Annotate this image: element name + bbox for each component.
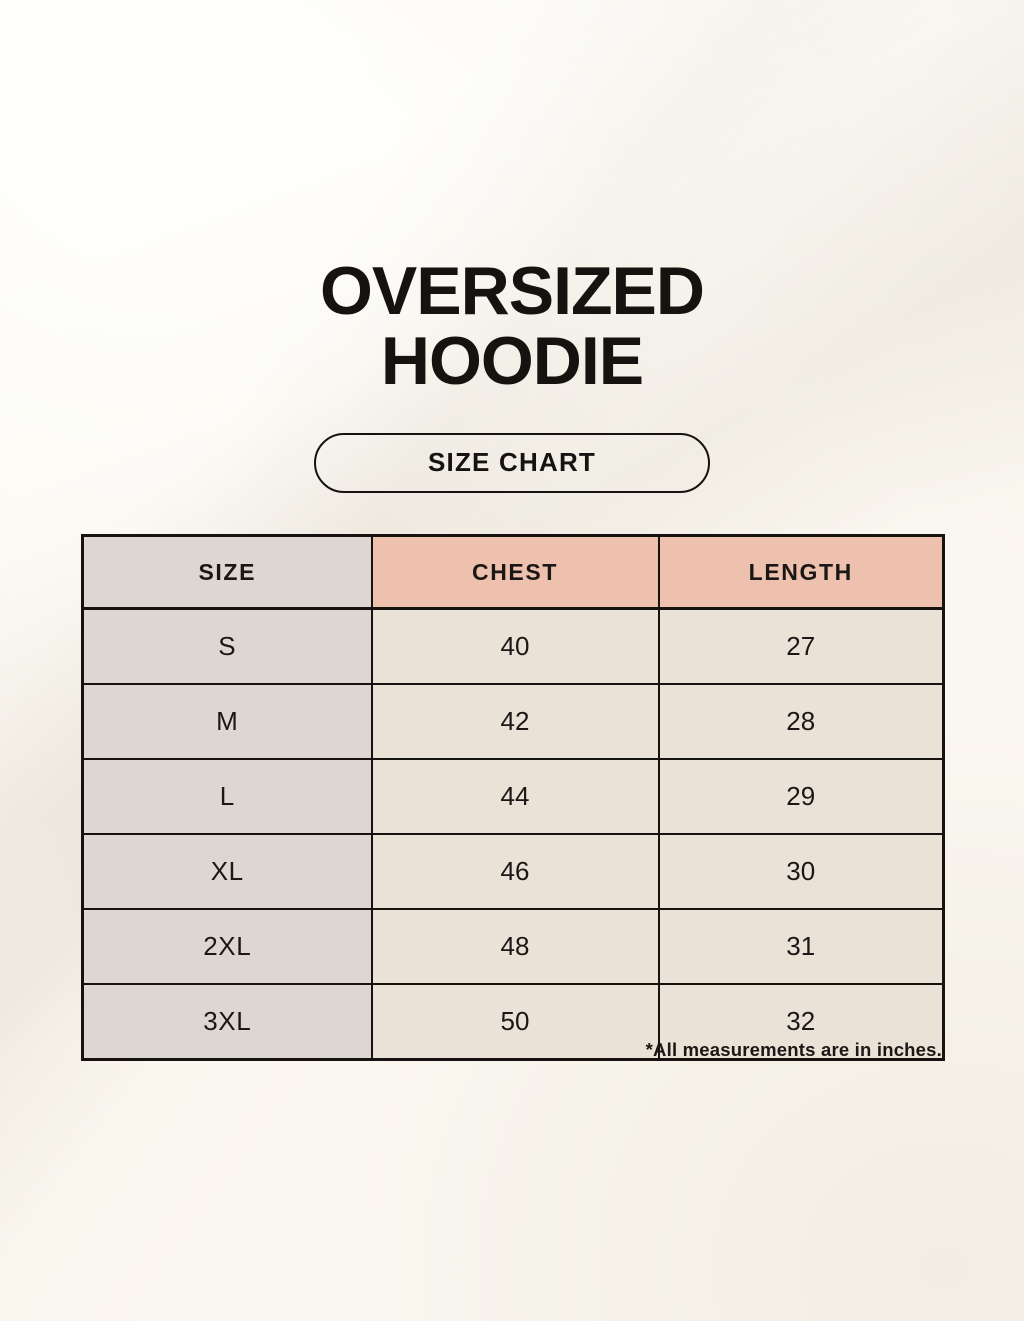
cell-chest: 44 bbox=[372, 759, 659, 834]
cell-size: 2XL bbox=[83, 909, 372, 984]
column-header-length: LENGTH bbox=[659, 536, 944, 609]
table-row: 2XL 48 31 bbox=[83, 909, 944, 984]
table-row: S 40 27 bbox=[83, 609, 944, 685]
cell-length: 31 bbox=[659, 909, 944, 984]
size-chart-table-container: SIZE CHEST LENGTH S 40 27 M 42 28 L bbox=[81, 534, 942, 1061]
cell-chest: 42 bbox=[372, 684, 659, 759]
cell-length: 30 bbox=[659, 834, 944, 909]
column-header-chest: CHEST bbox=[372, 536, 659, 609]
cell-size: M bbox=[83, 684, 372, 759]
page-title-line-2: HOODIE bbox=[0, 326, 1024, 396]
page-title: OVERSIZED HOODIE bbox=[0, 256, 1024, 396]
column-header-size: SIZE bbox=[83, 536, 372, 609]
page-title-line-1: OVERSIZED bbox=[0, 256, 1024, 326]
cell-chest: 46 bbox=[372, 834, 659, 909]
table-row: L 44 29 bbox=[83, 759, 944, 834]
table-body: S 40 27 M 42 28 L 44 29 XL 46 30 bbox=[83, 609, 944, 1060]
measurements-footnote: *All measurements are in inches. bbox=[81, 1039, 942, 1061]
cell-length: 27 bbox=[659, 609, 944, 685]
cell-size: L bbox=[83, 759, 372, 834]
table-header-row: SIZE CHEST LENGTH bbox=[83, 536, 944, 609]
size-chart-badge: SIZE CHART bbox=[314, 433, 710, 493]
cell-length: 28 bbox=[659, 684, 944, 759]
cell-chest: 48 bbox=[372, 909, 659, 984]
size-chart-badge-container: SIZE CHART bbox=[0, 433, 1024, 493]
size-chart-page: OVERSIZED HOODIE SIZE CHART SIZE CHEST L… bbox=[0, 0, 1024, 1321]
cell-chest: 40 bbox=[372, 609, 659, 685]
table-head: SIZE CHEST LENGTH bbox=[83, 536, 944, 609]
cell-size: XL bbox=[83, 834, 372, 909]
table-row: XL 46 30 bbox=[83, 834, 944, 909]
cell-size: S bbox=[83, 609, 372, 685]
size-chart-table: SIZE CHEST LENGTH S 40 27 M 42 28 L bbox=[81, 534, 945, 1061]
cell-length: 29 bbox=[659, 759, 944, 834]
table-row: M 42 28 bbox=[83, 684, 944, 759]
